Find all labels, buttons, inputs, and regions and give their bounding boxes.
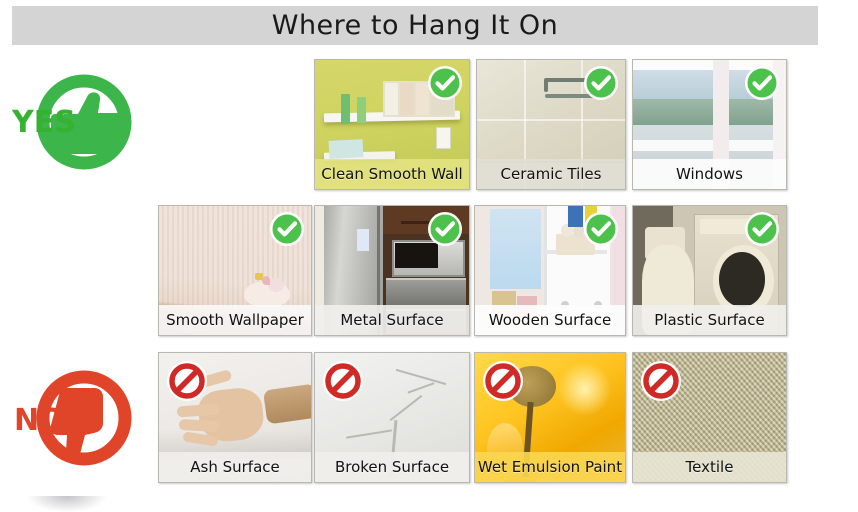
green-check-badge-icon	[744, 211, 780, 247]
green-check-badge-icon	[427, 211, 463, 247]
surface-card-windows[interactable]: Windows	[632, 59, 787, 190]
page-title-bar: Where to Hang It On	[12, 6, 818, 45]
page-title: Where to Hang It On	[272, 10, 559, 41]
verdict-yes-label: YES	[11, 105, 76, 140]
red-prohibition-icon	[322, 360, 364, 402]
thumbs-down-circle-icon: NO	[4, 358, 154, 478]
surface-card-wooden-surface[interactable]: Wooden Surface	[474, 205, 626, 336]
surface-card-broken-surface[interactable]: Broken Surface	[314, 352, 470, 483]
surface-card-label: Smooth Wallpaper	[159, 305, 311, 335]
surface-card-wet-emulsion-paint[interactable]: Wet Emulsion Paint	[474, 352, 626, 483]
surface-card-label: Ceramic Tiles	[477, 159, 625, 189]
red-prohibition-icon	[482, 360, 524, 402]
surface-card-label: Broken Surface	[315, 452, 469, 482]
surface-card-ceramic-tiles[interactable]: Ceramic Tiles	[476, 59, 626, 190]
surface-card-smooth-wallpaper[interactable]: Smooth Wallpaper	[158, 205, 312, 336]
surface-card-label: Wet Emulsion Paint	[475, 452, 625, 482]
surface-card-textile[interactable]: Textile	[632, 352, 787, 483]
surface-card-label: Wooden Surface	[475, 305, 625, 335]
surface-card-label: Metal Surface	[315, 305, 469, 335]
surface-card-label: Clean Smooth Wall	[315, 159, 469, 189]
surface-card-label: Plastic Surface	[633, 305, 786, 335]
verdict-no-label: NO	[14, 403, 65, 438]
green-check-badge-icon	[583, 211, 619, 247]
green-check-badge-icon	[583, 65, 619, 101]
bottom-edge-artifact	[28, 496, 106, 512]
thumbs-up-circle-icon: YES	[4, 62, 154, 182]
surface-card-ash-surface[interactable]: Ash Surface	[158, 352, 312, 483]
poster-root: Where to Hang It On YES NO	[0, 0, 858, 506]
surface-card-label: Textile	[633, 452, 786, 482]
green-check-badge-icon	[427, 65, 463, 101]
red-prohibition-icon	[640, 360, 682, 402]
verdict-no: NO	[4, 358, 154, 478]
surface-card-metal-surface[interactable]: Metal Surface	[314, 205, 470, 336]
surface-card-label: Windows	[633, 159, 786, 189]
surface-card-clean-smooth-wall[interactable]: Clean Smooth Wall	[314, 59, 470, 190]
surface-card-label: Ash Surface	[159, 452, 311, 482]
verdict-yes: YES	[4, 62, 154, 182]
green-check-badge-icon	[269, 211, 305, 247]
green-check-badge-icon	[744, 65, 780, 101]
red-prohibition-icon	[166, 360, 208, 402]
surface-card-plastic-surface[interactable]: Plastic Surface	[632, 205, 787, 336]
